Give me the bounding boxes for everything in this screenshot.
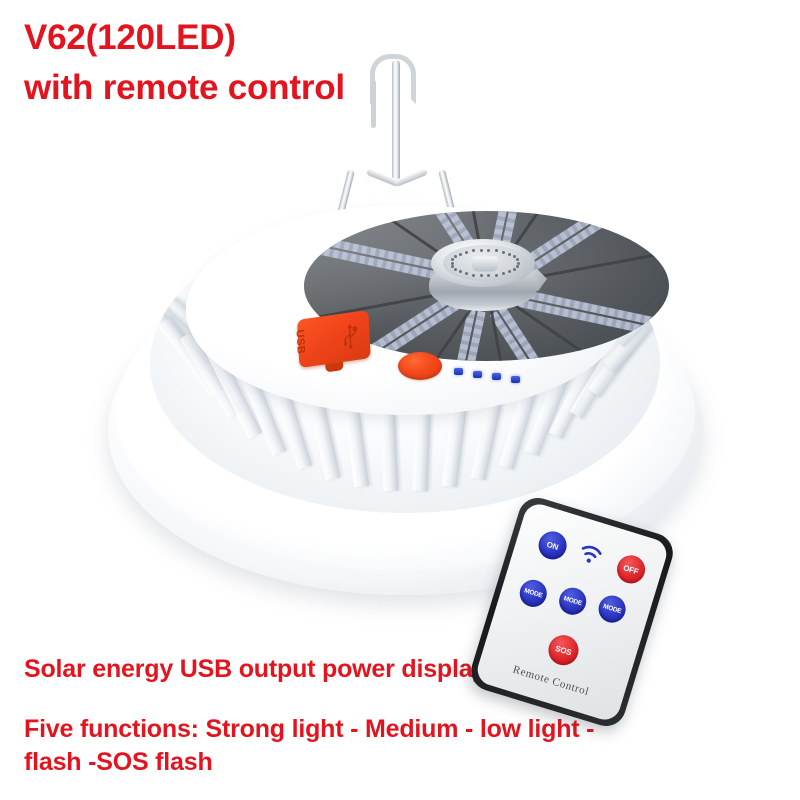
hanger-stem bbox=[392, 60, 400, 185]
usb-icon bbox=[341, 320, 359, 350]
product-title-line-2: with remote control bbox=[24, 68, 345, 108]
functions-caption-line-1: Five functions: Strong light - Medium - … bbox=[24, 715, 594, 744]
battery-led-2 bbox=[473, 371, 482, 378]
on-button[interactable]: ON bbox=[535, 528, 570, 563]
off-button-label: OFF bbox=[622, 563, 639, 576]
battery-led-3 bbox=[492, 373, 501, 380]
metal-center-hub bbox=[429, 239, 537, 317]
hub-emblem bbox=[443, 245, 527, 281]
hub-engraved-text bbox=[443, 245, 527, 281]
remote-brand-label: Remote Control bbox=[478, 653, 623, 708]
mode-2-button-label: MODE bbox=[563, 595, 583, 607]
hub-top-face bbox=[431, 239, 535, 287]
off-button[interactable]: OFF bbox=[614, 552, 649, 587]
hook-tail bbox=[371, 80, 376, 128]
sos-button-label: SOS bbox=[554, 643, 572, 656]
lamp-top-deck: USB bbox=[186, 205, 626, 415]
sos-button[interactable]: SOS bbox=[545, 631, 582, 668]
power-button[interactable] bbox=[398, 352, 442, 380]
battery-led-1 bbox=[454, 368, 463, 375]
mode-1-button-label: MODE bbox=[523, 587, 543, 599]
mode-3-button[interactable]: MODE bbox=[595, 592, 629, 626]
usb-port-cover[interactable]: USB bbox=[297, 310, 371, 372]
feature-caption: Solar energy USB output power display bbox=[24, 655, 486, 684]
product-image-canvas: V62(120LED) with remote control Solar en… bbox=[0, 0, 800, 800]
mode-1-button[interactable]: MODE bbox=[516, 577, 550, 611]
functions-caption-line-2: flash -SOS flash bbox=[24, 748, 213, 777]
product-title-line-1: V62(120LED) bbox=[24, 18, 236, 58]
usb-label: USB bbox=[294, 329, 307, 355]
on-button-label: ON bbox=[546, 539, 560, 551]
mode-3-button-label: MODE bbox=[602, 603, 622, 615]
battery-led-4 bbox=[511, 376, 520, 383]
usb-cover-pad: USB bbox=[297, 310, 371, 368]
signal-icon[interactable] bbox=[576, 542, 605, 567]
mode-2-button[interactable]: MODE bbox=[556, 584, 590, 618]
